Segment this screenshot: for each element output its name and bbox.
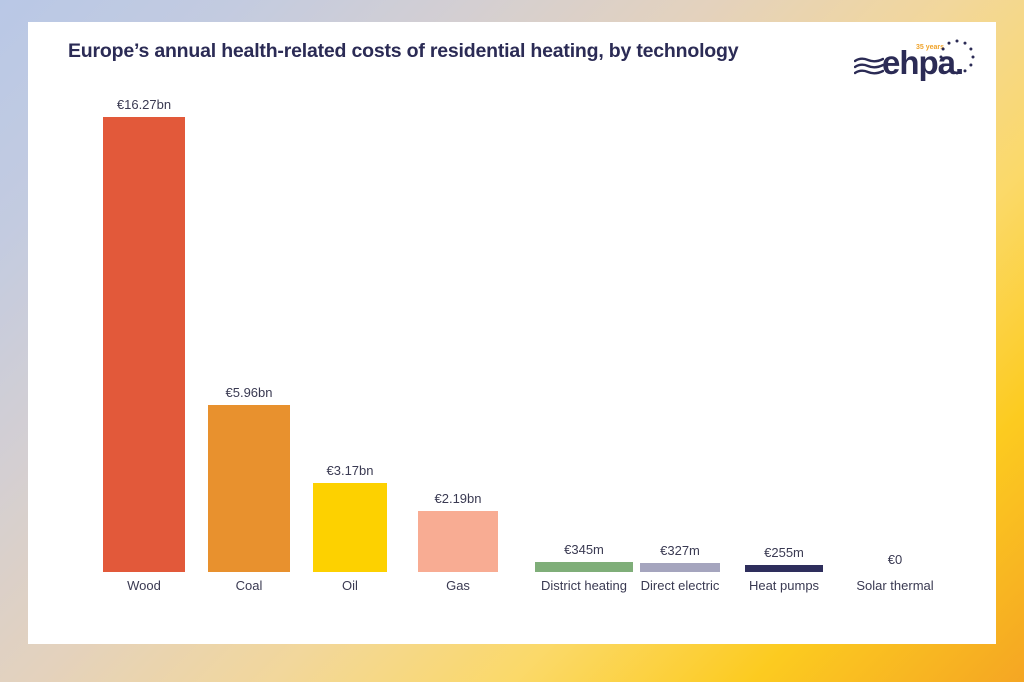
bar-group: €327mDirect electric [640,563,720,572]
bar-value-label: €327m [660,543,700,558]
bar-rect[interactable] [103,117,185,572]
bar-rect[interactable] [535,562,633,572]
bar-value-label: €255m [764,545,804,560]
bar-value-label: €0 [888,552,902,567]
bar-rect[interactable] [418,511,498,572]
bar-group: €0Solar thermal [850,571,940,572]
bar-rect[interactable] [208,405,290,572]
bar-value-label: €5.96bn [226,385,273,400]
bar-category-label: Heat pumps [749,578,819,593]
bar-group: €16.27bnWood [103,117,185,572]
bar-category-label: Wood [127,578,161,593]
bar-chart-plot: €16.27bnWood€5.96bnCoal€3.17bnOil€2.19bn… [28,22,996,644]
bar-value-label: €16.27bn [117,97,171,112]
bar-category-label: Direct electric [641,578,720,593]
bar-rect[interactable] [640,563,720,572]
bar-value-label: €345m [564,542,604,557]
bar-category-label: Oil [342,578,358,593]
bar-group: €5.96bnCoal [208,405,290,572]
bar-category-label: District heating [541,578,627,593]
bar-value-label: €2.19bn [435,491,482,506]
bar-group: €2.19bnGas [418,511,498,572]
bar-rect[interactable] [313,483,387,572]
bar-category-label: Coal [236,578,263,593]
bar-category-label: Gas [446,578,470,593]
chart-card: Europe’s annual health-related costs of … [28,22,996,644]
bar-group: €255mHeat pumps [745,565,823,572]
bar-category-label: Solar thermal [856,578,933,593]
bar-group: €345mDistrict heating [535,562,633,572]
bar-value-label: €3.17bn [327,463,374,478]
bar-group: €3.17bnOil [313,483,387,572]
bar-rect[interactable] [745,565,823,572]
